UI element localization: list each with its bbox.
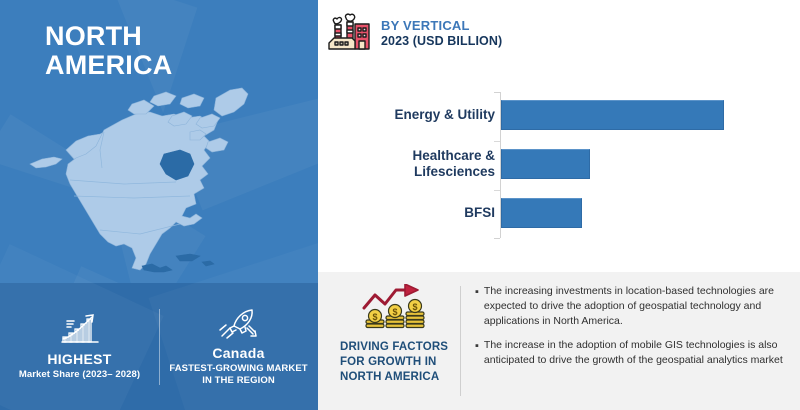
coins-growth-arrow-icon: $ $ (334, 284, 454, 336)
bar-label: BFSI (335, 205, 495, 221)
driving-factors-bullet-list: ▪ The increasing investments in location… (461, 272, 800, 410)
infographic-root: NORTH AMERICA (0, 0, 800, 410)
bar-row-energy-utility: Energy & Utility (318, 95, 800, 135)
axis-cap-bottom (494, 238, 500, 239)
list-item: ▪ The increasing investments in location… (475, 284, 788, 329)
region-panel: NORTH AMERICA (0, 0, 318, 410)
factory-icon (326, 13, 372, 55)
stat-value: HIGHEST (6, 351, 153, 367)
bar-energy-utility (501, 100, 724, 130)
bullet-square-icon: ▪ (475, 339, 479, 368)
driving-factors-panel: $ $ (318, 272, 800, 410)
axis-tick (494, 190, 500, 191)
north-america-map-icon (4, 58, 314, 273)
stat-caption: FASTEST-GROWING MARKET IN THE REGION (165, 363, 312, 387)
bar-row-bfsi: BFSI (318, 193, 800, 233)
rocket-icon (165, 306, 312, 340)
bullet-text: The increase in the adoption of mobile G… (484, 338, 788, 368)
bar-label: Energy & Utility (335, 107, 495, 123)
bar-healthcare-lifesciences (501, 149, 590, 179)
driving-factors-title: DRIVING FACTORS FOR GROWTH IN NORTH AMER… (334, 340, 454, 386)
bar-chart-plot: Energy & Utility Healthcare & Lifescienc… (318, 73, 800, 248)
growth-bar-chart-icon (6, 312, 153, 346)
bar-label: Healthcare & Lifesciences (335, 148, 495, 181)
axis-tick (494, 141, 500, 142)
bar-bfsi (501, 198, 582, 228)
stats-divider (159, 309, 160, 385)
chart-subtitle: 2023 (USD BILLION) (381, 34, 502, 50)
list-item: ▪ The increase in the adoption of mobile… (475, 338, 788, 368)
svg-text:$: $ (392, 307, 397, 317)
axis-cap-top (494, 92, 500, 93)
region-stats-strip: HIGHEST Market Share (2023– 2028) (0, 283, 318, 410)
vertical-chart-area: BY VERTICAL 2023 (USD BILLION) Energy & … (318, 0, 800, 272)
region-title: NORTH AMERICA (45, 22, 172, 80)
bar-row-healthcare-lifesciences: Healthcare & Lifesciences (318, 144, 800, 184)
svg-text:$: $ (372, 312, 377, 322)
svg-text:$: $ (412, 302, 417, 312)
bullet-text: The increasing investments in location-b… (484, 284, 788, 329)
driving-factors-heading-block: $ $ (318, 272, 460, 410)
bullet-square-icon: ▪ (475, 285, 479, 329)
chart-header: BY VERTICAL 2023 (USD BILLION) (326, 13, 502, 55)
stat-highest-market-share: HIGHEST Market Share (2023– 2028) (0, 312, 159, 381)
stat-caption: Market Share (2023– 2028) (6, 369, 153, 381)
stat-value: Canada (165, 345, 312, 361)
stat-fastest-growing-market: Canada FASTEST-GROWING MARKET IN THE REG… (159, 306, 318, 387)
chart-title: BY VERTICAL (381, 18, 502, 34)
